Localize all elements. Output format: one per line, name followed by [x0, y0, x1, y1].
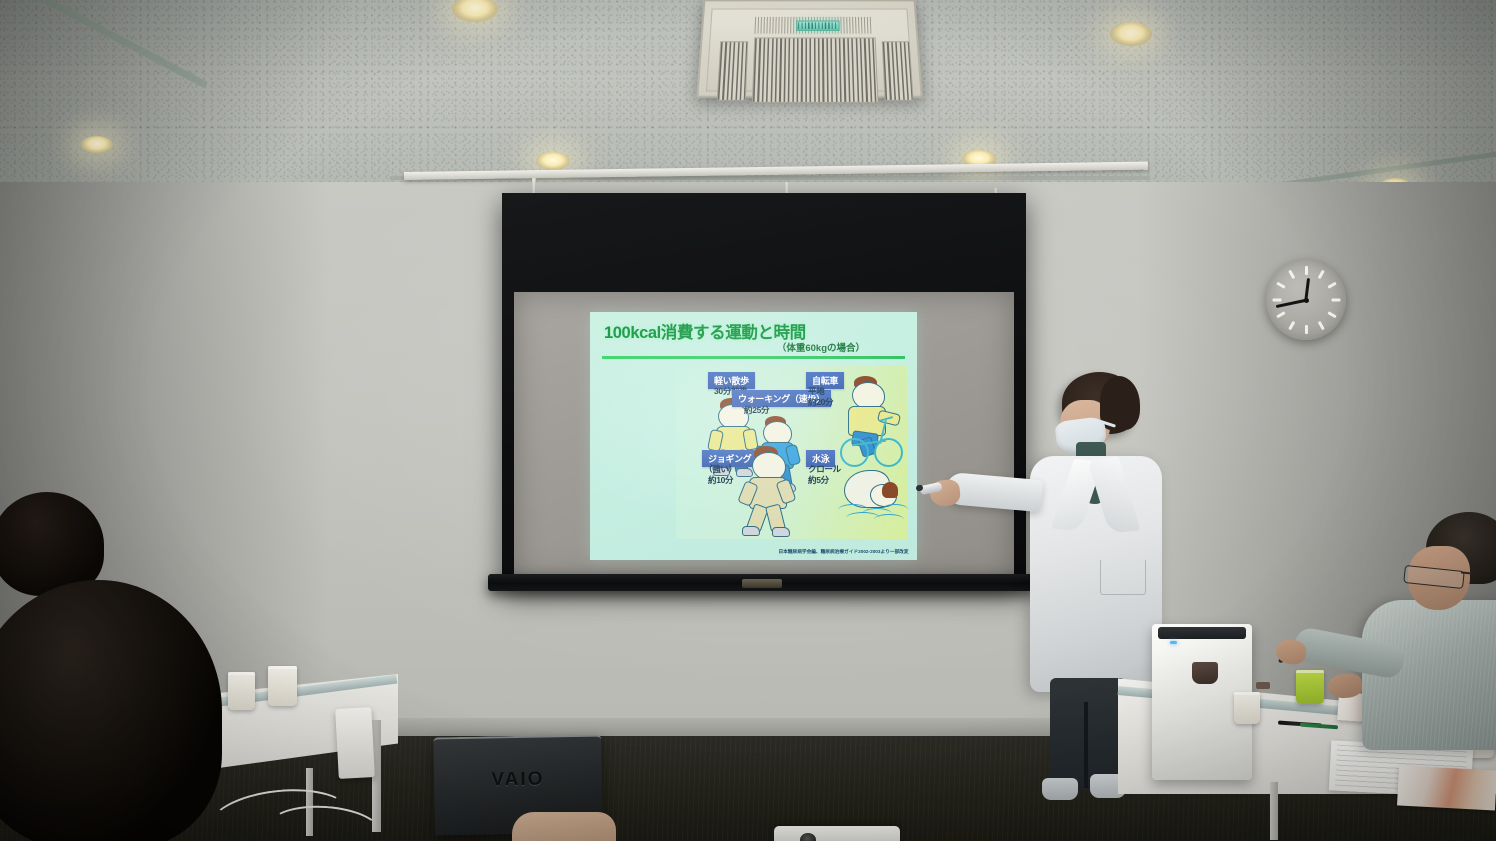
- slide-credit-text: 日本糖尿病学会編、糖尿病治療ガイド2002-2003より一部改変: [779, 549, 909, 555]
- ceiling-shadow-left: [0, 0, 420, 200]
- clock-tick: [1305, 325, 1308, 334]
- figure-bicycle: [838, 376, 904, 472]
- slide-item-duration-bicycle-line1: 平地: [808, 386, 824, 397]
- purifier-top-panel: [1158, 627, 1246, 639]
- attendee-right: [1368, 512, 1496, 762]
- slide-item-duration-bicycle-line2: 約20分: [808, 397, 833, 408]
- downlight-icon: [536, 152, 570, 170]
- green-cup[interactable]: [1296, 670, 1324, 704]
- downlight-icon: [1110, 22, 1152, 46]
- slide-subtitle: （体重60kgの場合）: [777, 340, 865, 354]
- slide-item-duration-swimming-line1: クロール: [808, 464, 841, 475]
- slide-divider: [602, 356, 905, 359]
- attendee-foreground-hand: [512, 812, 616, 841]
- screen-roller-bar: [488, 574, 1036, 591]
- presenter-leg-separation: [1084, 702, 1088, 788]
- clock-tick: [1317, 270, 1324, 279]
- presenter-coat-pocket: [1100, 560, 1146, 595]
- clock-tick: [1317, 321, 1324, 330]
- ac-display-icon: [796, 21, 840, 31]
- laptop-brand-logo: VAIO: [491, 769, 544, 792]
- screen-pull-handle[interactable]: [742, 579, 782, 588]
- clock-tick: [1276, 282, 1285, 289]
- clock-tick: [1272, 299, 1281, 302]
- cup-rim: [268, 666, 297, 669]
- presenter-sock: [1042, 778, 1078, 800]
- small-desk-item: [1256, 682, 1270, 689]
- paper-cup[interactable]: [268, 666, 297, 706]
- ac-louver: [717, 41, 749, 101]
- ac-panel: [706, 9, 913, 92]
- slide-item-duration-jogging-line2: 約10分: [708, 475, 733, 486]
- downlight-icon: [81, 136, 113, 153]
- ac-display-segments: [798, 22, 838, 29]
- figure-swimming: [840, 464, 906, 526]
- power-adapter-box: [335, 707, 375, 779]
- projector-lens-icon: [800, 833, 816, 841]
- slide-item-duration-swimming-line2: 約5分: [808, 475, 829, 486]
- slide-item-duration-walking-fast: 約25分: [744, 405, 769, 416]
- ac-louver: [752, 37, 879, 102]
- ac-louver: [882, 41, 914, 101]
- figure-jogging: [740, 446, 800, 538]
- clock-tick: [1288, 270, 1295, 279]
- leaflet[interactable]: [1397, 765, 1496, 810]
- clock-tick: [1327, 282, 1336, 289]
- projector: [774, 826, 900, 841]
- projected-slide: 100kcal消費する運動と時間 （体重60kgの場合） 軽い散歩 30分前後 …: [590, 312, 917, 560]
- cup-rim: [228, 672, 255, 675]
- clock-tick: [1288, 321, 1295, 330]
- lecture-room-photo: 100kcal消費する運動と時間 （体重60kgの場合） 軽い散歩 30分前後 …: [0, 0, 1496, 841]
- clock-tick: [1276, 311, 1285, 318]
- clock-center-pin: [1304, 298, 1309, 303]
- cup-rim: [1296, 670, 1324, 673]
- cup-rim: [1234, 692, 1260, 695]
- paper-cup[interactable]: [228, 672, 255, 710]
- slide-title: 100kcal消費する運動と時間: [604, 319, 806, 343]
- paper-cup[interactable]: [1234, 692, 1260, 724]
- slide-item-duration-jogging-line1: （強い）: [704, 464, 737, 475]
- ceiling-air-conditioner: [696, 0, 923, 98]
- purifier-power-led-icon: [1170, 641, 1177, 644]
- clock-tick: [1305, 266, 1308, 275]
- clock-hour-hand: [1304, 278, 1310, 300]
- clock-tick: [1331, 299, 1340, 302]
- clock-tick: [1327, 311, 1336, 318]
- table-leg: [1270, 782, 1278, 840]
- wall-clock: [1266, 260, 1346, 340]
- desk-stand-object: [1192, 662, 1218, 684]
